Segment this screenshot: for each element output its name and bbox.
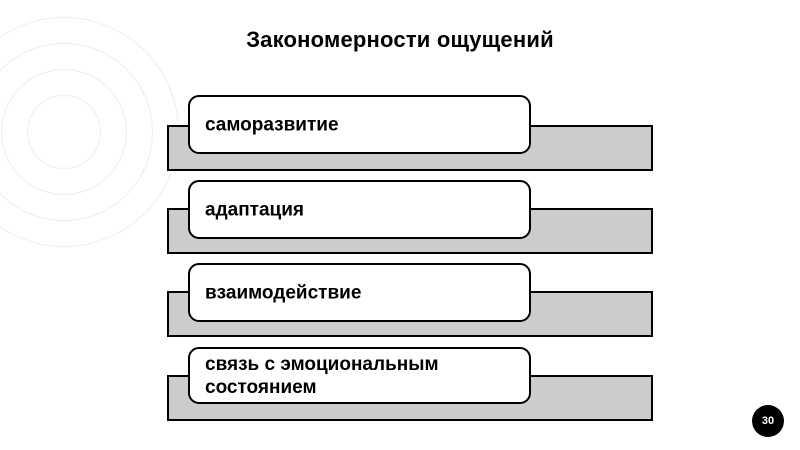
item-label: саморазвитие <box>205 113 339 136</box>
slide-canvas: Закономерности ощущений саморазвитие ада… <box>0 0 800 450</box>
ring-second-icon <box>0 43 153 221</box>
item-card[interactable]: связь с эмоциональным состоянием <box>188 347 531 404</box>
page-number-badge: 30 <box>752 405 784 437</box>
item-card[interactable]: саморазвитие <box>188 95 531 154</box>
item-card[interactable]: взаимодействие <box>188 263 531 322</box>
item-card[interactable]: адаптация <box>188 180 531 239</box>
slide-title: Закономерности ощущений <box>0 27 800 53</box>
ring-third-icon <box>1 69 127 195</box>
item-label: связь с эмоциональным состоянием <box>205 353 439 399</box>
item-label: взаимодействие <box>205 281 361 304</box>
item-label: адаптация <box>205 198 304 221</box>
ring-inner-icon <box>27 95 101 169</box>
